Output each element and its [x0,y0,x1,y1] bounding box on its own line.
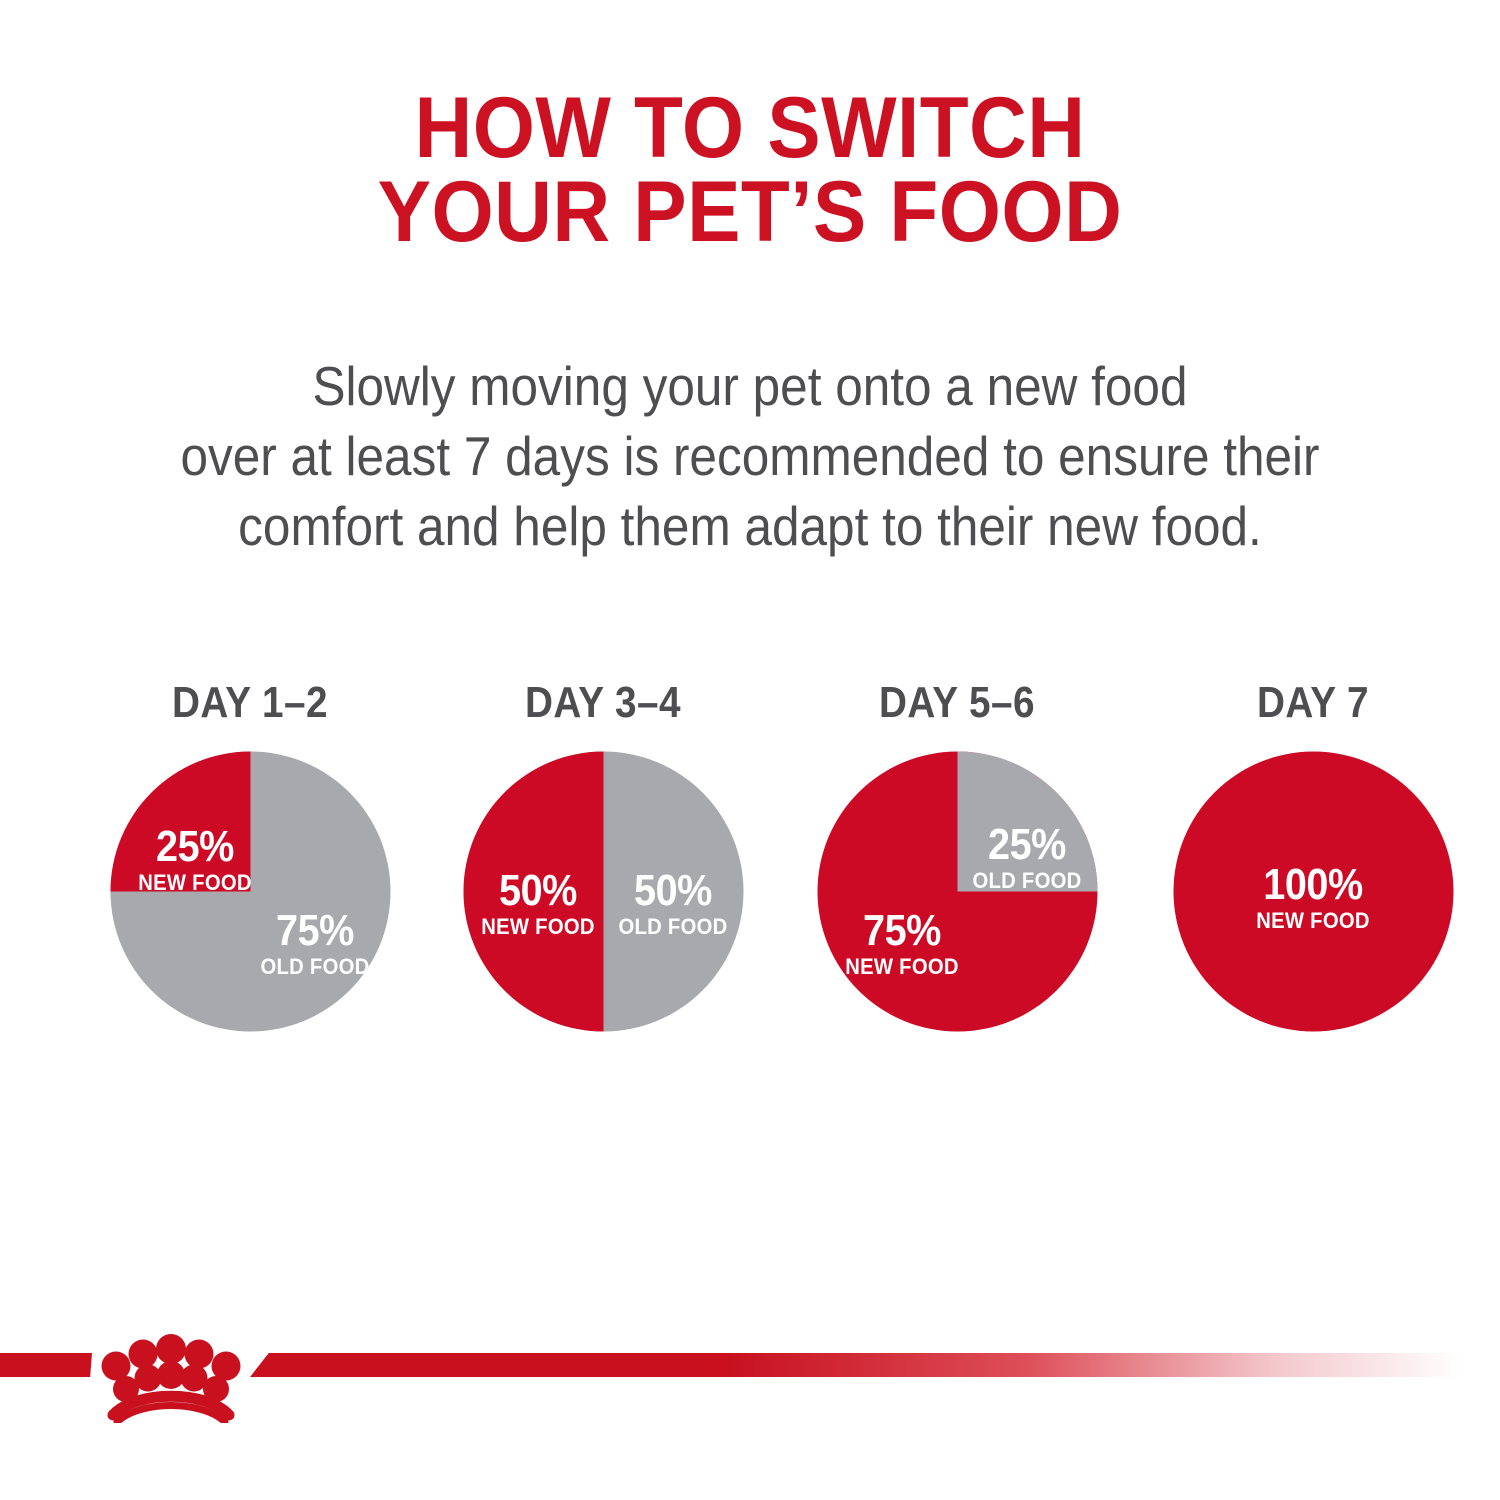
intro-line-1: Slowly moving your pet onto a new food [75,352,1425,422]
pie-chart-day-5-6: DAY 5–6 25% OLD FOOD 75% NEW FOOD [792,678,1122,1108]
pie-slice-new-food-4 [1174,752,1454,1032]
pie-chart-row: DAY 1–2 25% NEW FOOD 75% OLD FOOD [0,678,1500,1108]
pie-chart-day-3-4: DAY 3–4 50% NEW FOOD 50% OLD FOOD [438,678,768,1108]
infographic-page: HOW TO SWITCH YOUR PET’S FOOD Slowly mov… [0,0,1500,1500]
page-title-line-1: HOW TO SWITCH [53,86,1448,170]
crown-icon [96,1318,246,1423]
day-label-2: DAY 3–4 [458,678,748,728]
pie-graphic-3: 25% OLD FOOD 75% NEW FOOD [817,751,1098,1032]
pie-chart-day-1-2: DAY 1–2 25% NEW FOOD 75% OLD FOOD [85,678,415,1108]
day-label-4: DAY 7 [1168,678,1458,728]
footer-bar-left-segment [0,1353,92,1377]
day-label-3: DAY 5–6 [812,678,1102,728]
footer-bar-right-segment [250,1353,1500,1377]
pie-chart-day-7: DAY 7 100% NEW FOOD [1148,678,1478,1108]
intro-line-3: comfort and help them adapt to their new… [75,492,1425,562]
pie-graphic-4: 100% NEW FOOD [1173,751,1454,1032]
pie-svg-3 [817,751,1098,1032]
royal-canin-crown-logo [96,1318,246,1423]
intro-paragraph: Slowly moving your pet onto a new food o… [75,352,1425,562]
page-title: HOW TO SWITCH YOUR PET’S FOOD [53,86,1448,255]
intro-line-2: over at least 7 days is recommended to e… [75,422,1425,492]
footer [0,1348,1500,1382]
pie-svg-1 [110,751,391,1032]
pie-graphic-2: 50% NEW FOOD 50% OLD FOOD [463,751,744,1032]
pie-svg-2 [463,751,744,1032]
day-label-1: DAY 1–2 [105,678,395,728]
pie-graphic-1: 25% NEW FOOD 75% OLD FOOD [110,751,391,1032]
pie-svg-4 [1173,751,1454,1032]
pie-slice-new-food-1 [111,752,251,892]
pie-slice-old-food-3 [958,752,1098,892]
page-title-line-2: YOUR PET’S FOOD [53,170,1448,254]
